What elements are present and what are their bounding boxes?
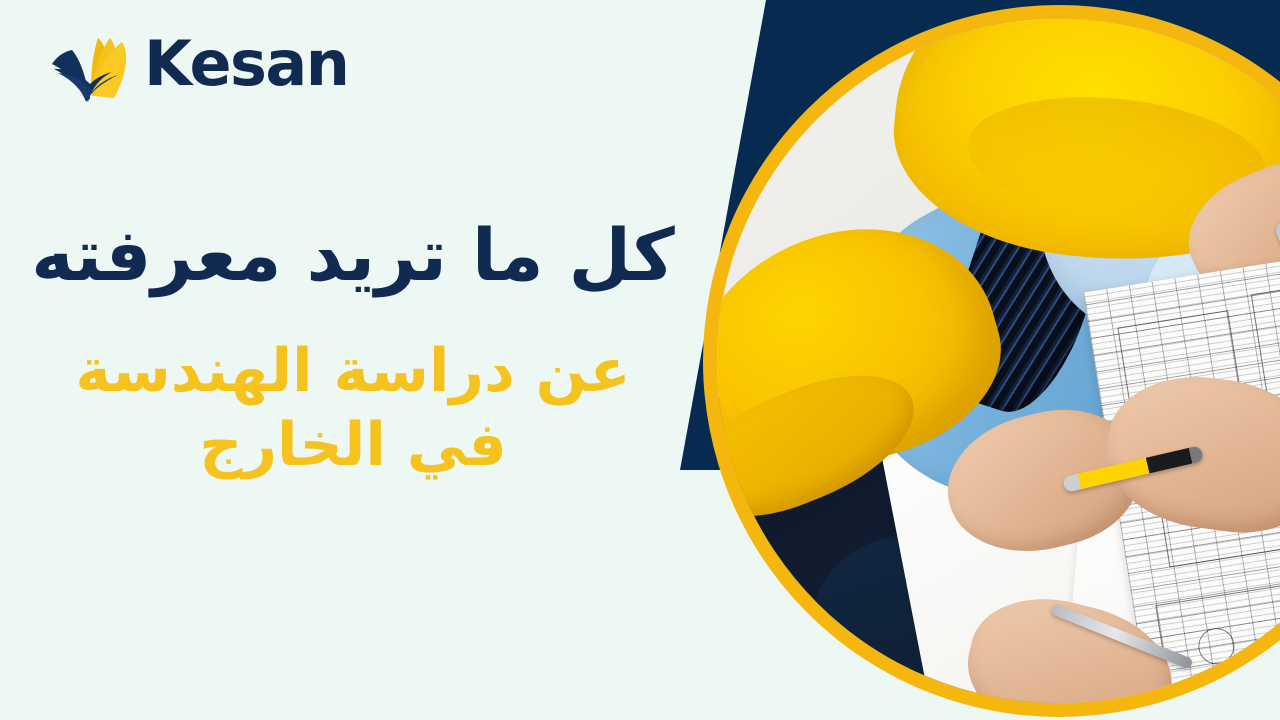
headline-block: كل ما تريد معرفته عن دراسة الهندسة في ال…: [0, 212, 706, 483]
headline-line-3: في الخارج: [0, 408, 706, 482]
hero-photo: [717, 19, 1280, 703]
open-book-icon: [46, 22, 140, 106]
banner-root: Kesan كل ما تريد معرفته عن دراسة الهندسة…: [0, 0, 1280, 720]
hero-photo-clip: [717, 19, 1280, 703]
brand-wordmark: Kesan: [144, 33, 348, 95]
hero-circle: [703, 5, 1280, 717]
brand-logo[interactable]: Kesan: [46, 22, 348, 106]
headline-line-1: كل ما تريد معرفته: [0, 212, 706, 300]
headline-line-2: عن دراسة الهندسة: [0, 334, 706, 408]
